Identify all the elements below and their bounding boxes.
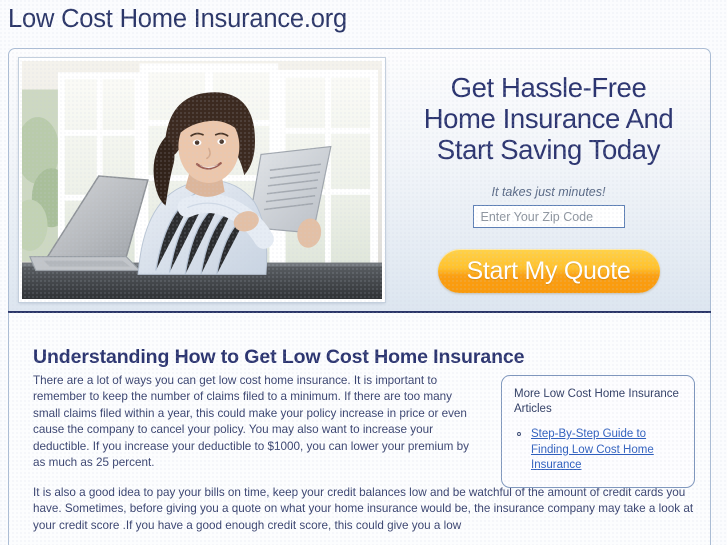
article-paragraph-2-column: It is also a good idea to pay your bills… bbox=[33, 485, 699, 534]
hero-offer-panel: Get Hassle-Free Home Insurance And Start… bbox=[395, 49, 710, 311]
hero-headline-line-2: Home Insurance And bbox=[395, 103, 702, 134]
article-paragraph-2: It is also a good idea to pay your bills… bbox=[33, 485, 699, 534]
list-item: Step-By-Step Guide to Finding Low Cost H… bbox=[514, 427, 682, 474]
zip-code-input[interactable] bbox=[473, 205, 625, 228]
hero-photo bbox=[19, 58, 385, 302]
start-my-quote-button[interactable]: Start My Quote bbox=[438, 249, 660, 293]
hero-tagline: It takes just minutes! bbox=[395, 185, 702, 199]
related-articles-list: Step-By-Step Guide to Finding Low Cost H… bbox=[514, 427, 682, 474]
hero-headline: Get Hassle-Free Home Insurance And Start… bbox=[395, 72, 702, 165]
related-articles-box: More Low Cost Home Insurance Articles St… bbox=[501, 375, 695, 488]
section-heading: Understanding How to Get Low Cost Home I… bbox=[33, 346, 524, 369]
related-article-link[interactable]: Step-By-Step Guide to Finding Low Cost H… bbox=[531, 428, 654, 471]
related-articles-title: More Low Cost Home Insurance Articles bbox=[514, 387, 682, 416]
hero-banner: Get Hassle-Free Home Insurance And Start… bbox=[8, 48, 711, 311]
site-title: Low Cost Home Insurance.org bbox=[8, 5, 347, 34]
zip-form bbox=[395, 205, 702, 228]
hero-photo-illustration bbox=[22, 61, 382, 299]
article-paragraph-1-column: There are a lot of ways you can get low … bbox=[33, 373, 476, 471]
cta-container: Start My Quote bbox=[395, 249, 702, 293]
bullet-icon bbox=[517, 432, 521, 436]
main-content: Understanding How to Get Low Cost Home I… bbox=[8, 313, 711, 545]
hero-headline-line-3: Start Saving Today bbox=[395, 134, 702, 165]
article-paragraph-1: There are a lot of ways you can get low … bbox=[33, 373, 476, 471]
hero-headline-line-1: Get Hassle-Free bbox=[395, 72, 702, 103]
